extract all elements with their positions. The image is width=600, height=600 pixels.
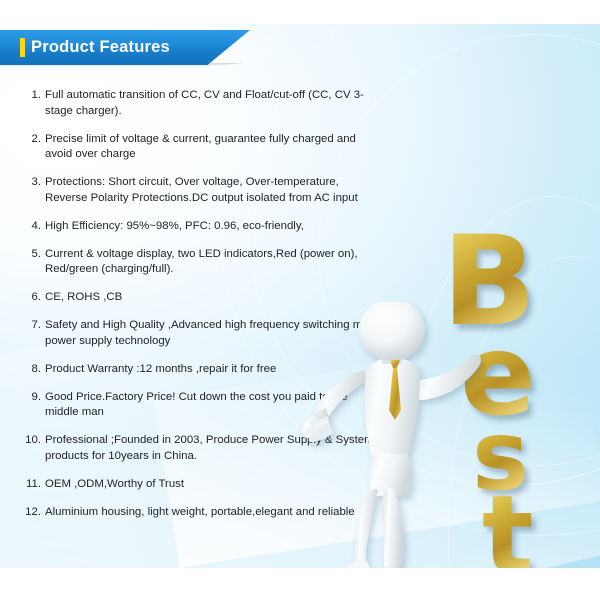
list-item-number: 6. <box>22 290 41 306</box>
list-item-number: 12. <box>22 505 41 521</box>
list-item-text: Professional ;Founded in 2003, Produce P… <box>45 433 382 464</box>
decorative-arc <box>448 256 600 568</box>
golden-letter-b: B <box>442 220 537 344</box>
list-item: 6. CE, ROHS ,CB <box>22 290 382 306</box>
list-item: 9. Good Price.Factory Price! Cut down th… <box>22 390 382 421</box>
list-item-number: 2. <box>22 132 41 148</box>
list-item-text: High Efficiency: 95%~98%, PFC: 0.96, eco… <box>45 219 382 235</box>
golden-letter-e: e <box>460 320 536 432</box>
list-item: 2. Precise limit of voltage & current, g… <box>22 132 382 163</box>
list-item-text: Protections: Short circuit, Over voltage… <box>45 175 382 206</box>
page-title: Product Features <box>31 36 170 59</box>
list-item: 3. Protections: Short circuit, Over volt… <box>22 175 382 206</box>
golden-best-word-graphic: B e s t <box>436 220 596 568</box>
product-features-banner: Product Features <box>0 30 250 70</box>
list-item: 4. High Efficiency: 95%~98%, PFC: 0.96, … <box>22 219 382 235</box>
feature-list: 1. Full automatic transition of CC, CV a… <box>22 88 382 533</box>
list-item: 11. OEM ,ODM,Worthy of Trust <box>22 477 382 493</box>
list-item: 5. Current & voltage display, two LED in… <box>22 247 382 278</box>
list-item-text: Product Warranty :12 months ,repair it f… <box>45 362 382 378</box>
list-item-number: 1. <box>22 88 41 104</box>
list-item-number: 9. <box>22 390 41 406</box>
list-item-number: 3. <box>22 175 41 191</box>
list-item-text: Safety and High Quality ,Advanced high f… <box>45 318 382 349</box>
content-panel: Product Features 1. Full automatic trans… <box>0 24 600 568</box>
list-item: 1. Full automatic transition of CC, CV a… <box>22 88 382 119</box>
product-features-page: Product Features 1. Full automatic trans… <box>0 0 600 600</box>
list-item: 10. Professional ;Founded in 2003, Produ… <box>22 433 382 464</box>
list-item-text: CE, ROHS ,CB <box>45 290 382 306</box>
list-item-number: 5. <box>22 247 41 263</box>
list-item-text: Aluminium housing, light weight, portabl… <box>45 505 382 521</box>
list-item: 7. Safety and High Quality ,Advanced hig… <box>22 318 382 349</box>
list-item-text: Full automatic transition of CC, CV and … <box>45 88 382 119</box>
list-item-text: OEM ,ODM,Worthy of Trust <box>45 477 382 493</box>
list-item-number: 4. <box>22 219 41 235</box>
golden-letter-t: t <box>482 482 534 568</box>
list-item-text: Good Price.Factory Price! Cut down the c… <box>45 390 382 421</box>
decorative-arc <box>388 196 600 568</box>
list-item-text: Precise limit of voltage & current, guar… <box>45 132 382 163</box>
list-item-number: 7. <box>22 318 41 334</box>
banner-accent-bar <box>20 38 25 57</box>
list-item-number: 8. <box>22 362 41 378</box>
list-item-number: 11. <box>22 477 41 493</box>
list-item-text: Current & voltage display, two LED indic… <box>45 247 382 278</box>
list-item-number: 10. <box>22 433 41 449</box>
list-item: 8. Product Warranty :12 months ,repair i… <box>22 362 382 378</box>
list-item: 12. Aluminium housing, light weight, por… <box>22 505 382 521</box>
golden-letter-s: s <box>472 408 529 504</box>
